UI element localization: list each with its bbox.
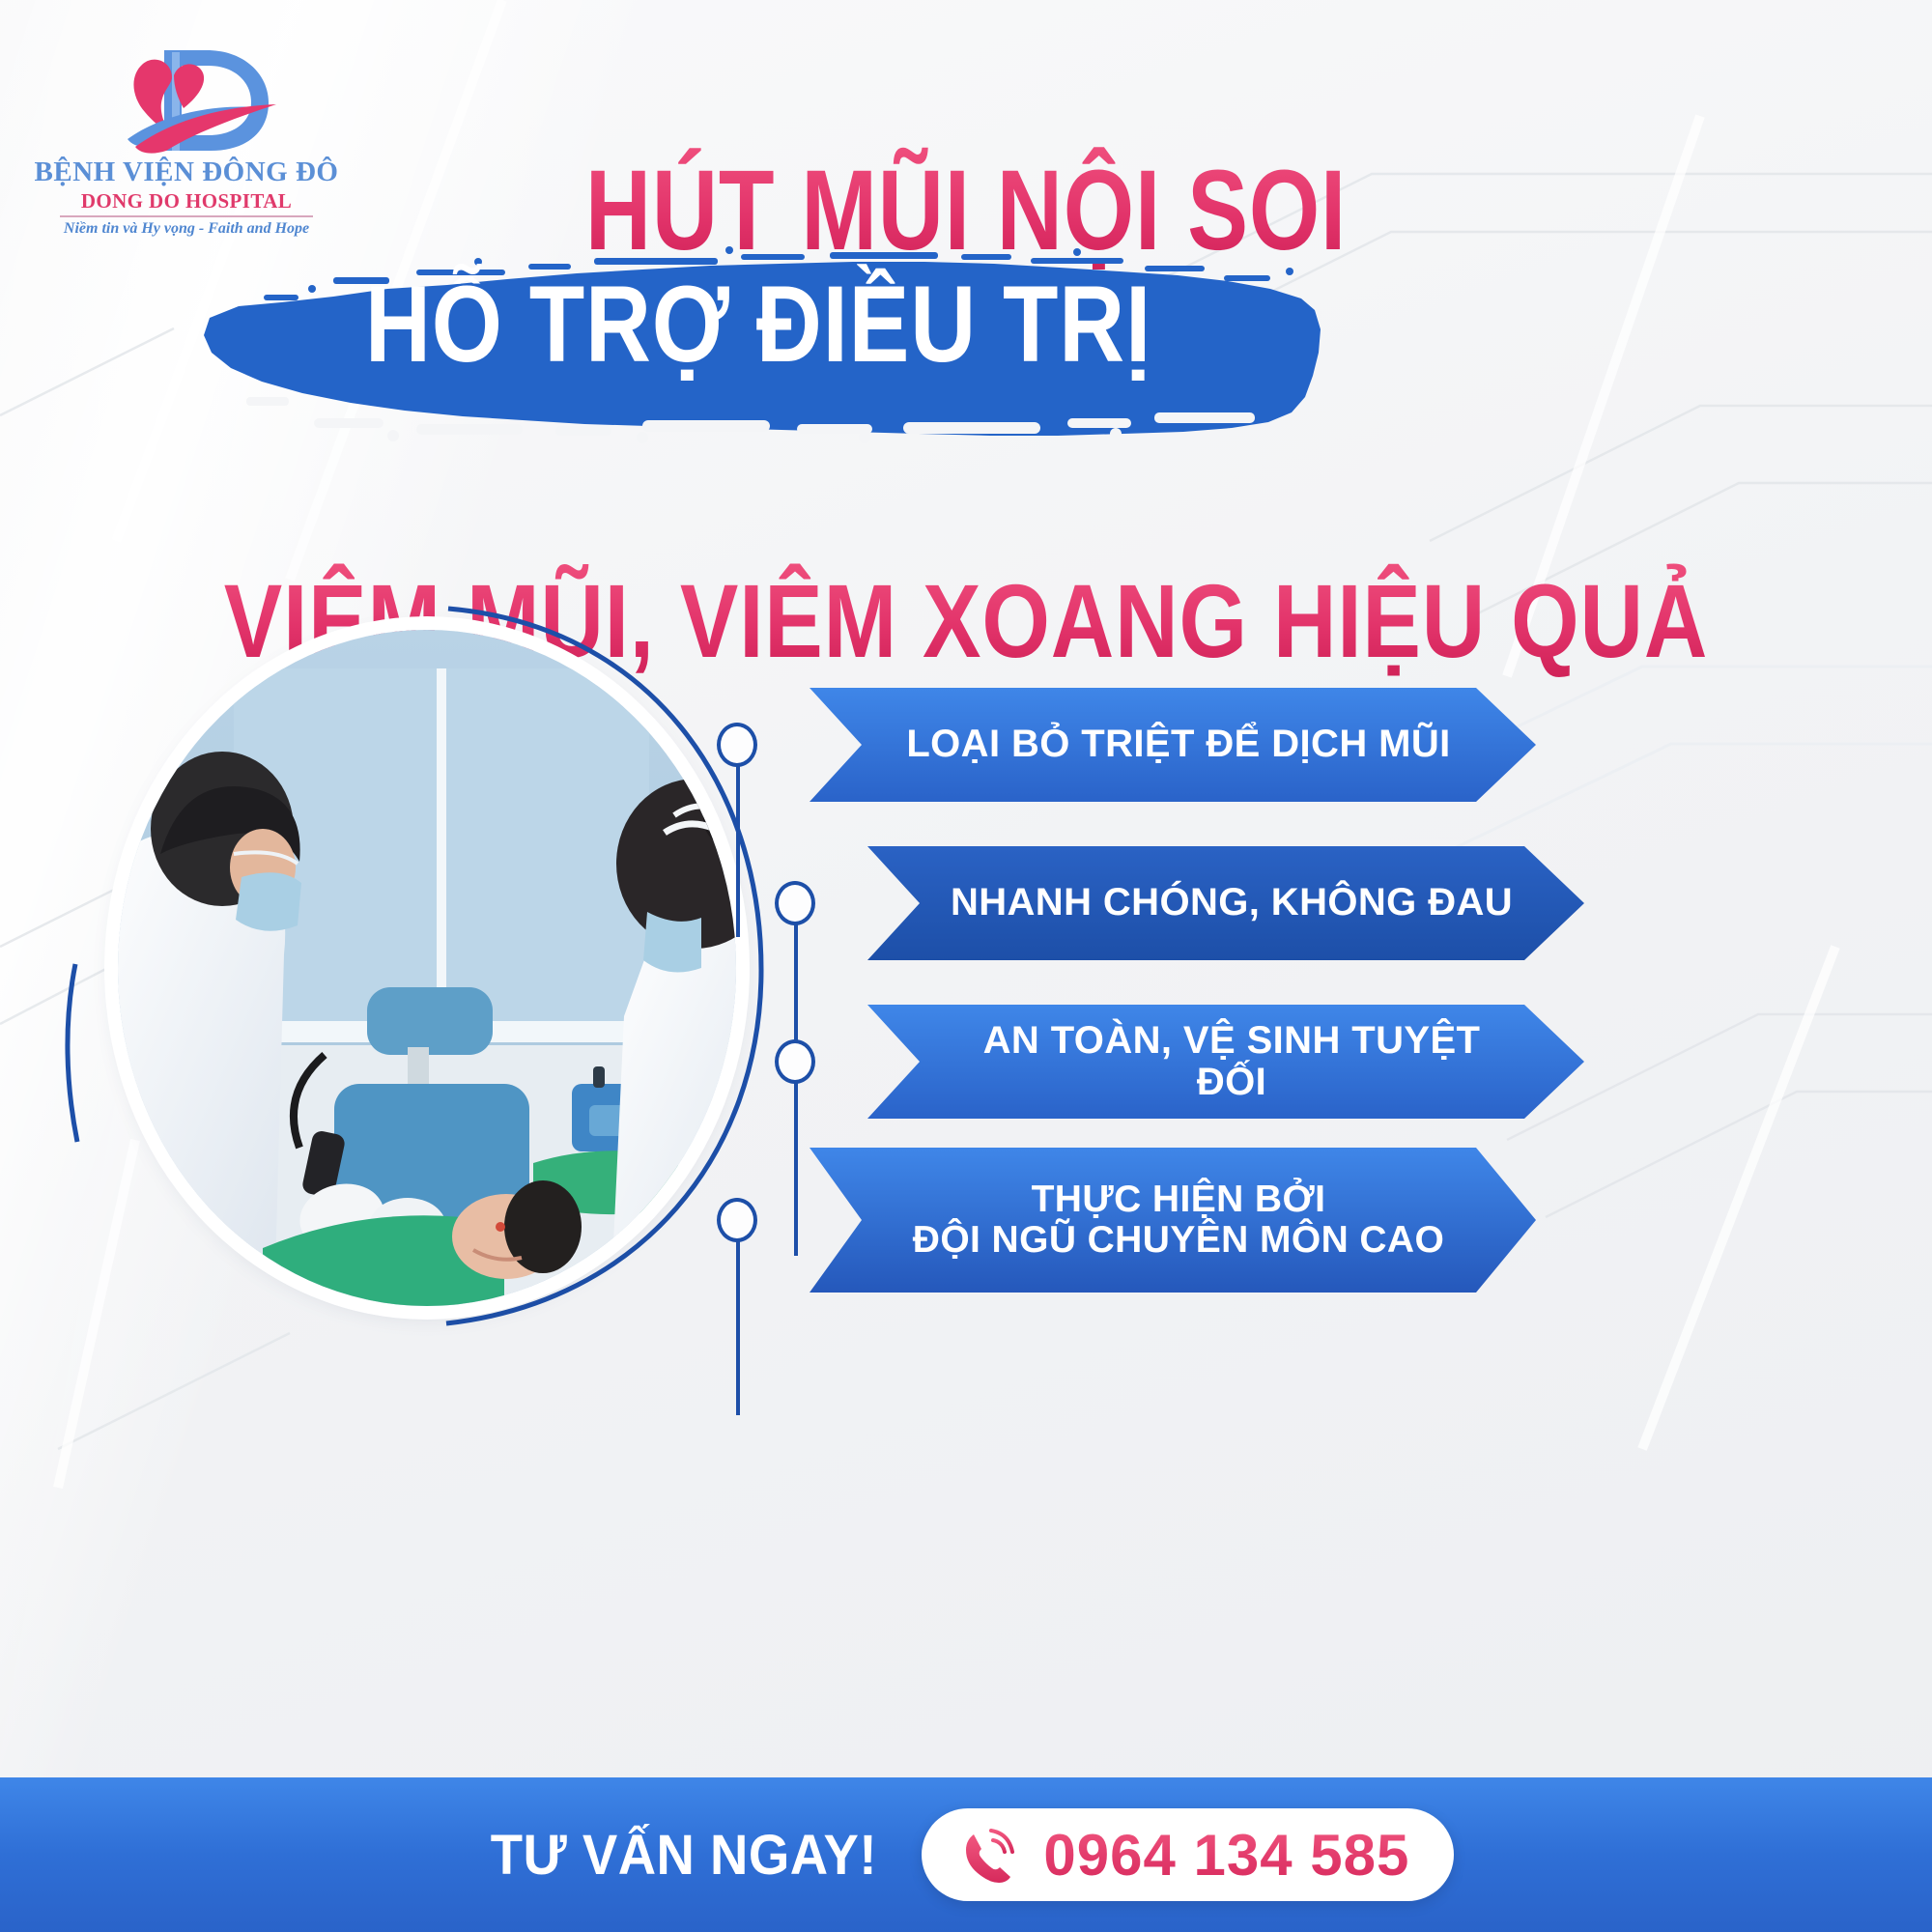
feature-banner-2[interactable]: NHANH CHÓNG, KHÔNG ĐAU bbox=[867, 846, 1584, 960]
feature-text-4-line1: THỰC HIỆN BỞI bbox=[913, 1179, 1444, 1220]
feature-text-4-line2: ĐỘI NGŨ CHUYÊN MÔN CAO bbox=[913, 1220, 1444, 1261]
feature-banner-1[interactable]: LOẠI BỎ TRIỆT ĐỂ DỊCH MŨI bbox=[810, 688, 1536, 802]
feature-text-3: AN TOÀN, VỆ SINH TUYỆT ĐỐI bbox=[943, 1020, 1520, 1103]
connector-rail-4 bbox=[736, 1241, 740, 1415]
connector-dot-3 bbox=[775, 1039, 815, 1084]
connector-rail-1 bbox=[736, 763, 740, 937]
feature-text-2: NHANH CHÓNG, KHÔNG ĐAU bbox=[951, 882, 1513, 923]
phone-button[interactable]: 0964 134 585 bbox=[922, 1808, 1454, 1901]
phone-number: 0964 134 585 bbox=[1043, 1822, 1409, 1889]
connector-dot-1 bbox=[717, 723, 757, 767]
phone-ringing-icon bbox=[958, 1825, 1018, 1885]
feature-banner-3[interactable]: AN TOÀN, VỆ SINH TUYỆT ĐỐI bbox=[867, 1005, 1584, 1119]
dong-do-d-heart-icon bbox=[27, 39, 346, 155]
feature-text-1: LOẠI BỎ TRIỆT ĐỂ DỊCH MŨI bbox=[906, 724, 1450, 765]
connector-dot-4 bbox=[717, 1198, 757, 1242]
connector-rail-3 bbox=[794, 1080, 798, 1256]
feature-banner-4[interactable]: THỰC HIỆN BỞI ĐỘI NGŨ CHUYÊN MÔN CAO bbox=[810, 1148, 1536, 1293]
photo-section bbox=[60, 601, 775, 1335]
cta-label: TƯ VẤN NGAY! bbox=[490, 1823, 876, 1888]
cta-bar: TƯ VẤN NGAY! 0964 134 585 bbox=[0, 1777, 1932, 1932]
connector-dot-2 bbox=[775, 881, 815, 925]
clinic-photo bbox=[118, 630, 736, 1306]
headline-line-2: HỖ TRỢ ĐIỀU TRỊ bbox=[279, 270, 1236, 379]
